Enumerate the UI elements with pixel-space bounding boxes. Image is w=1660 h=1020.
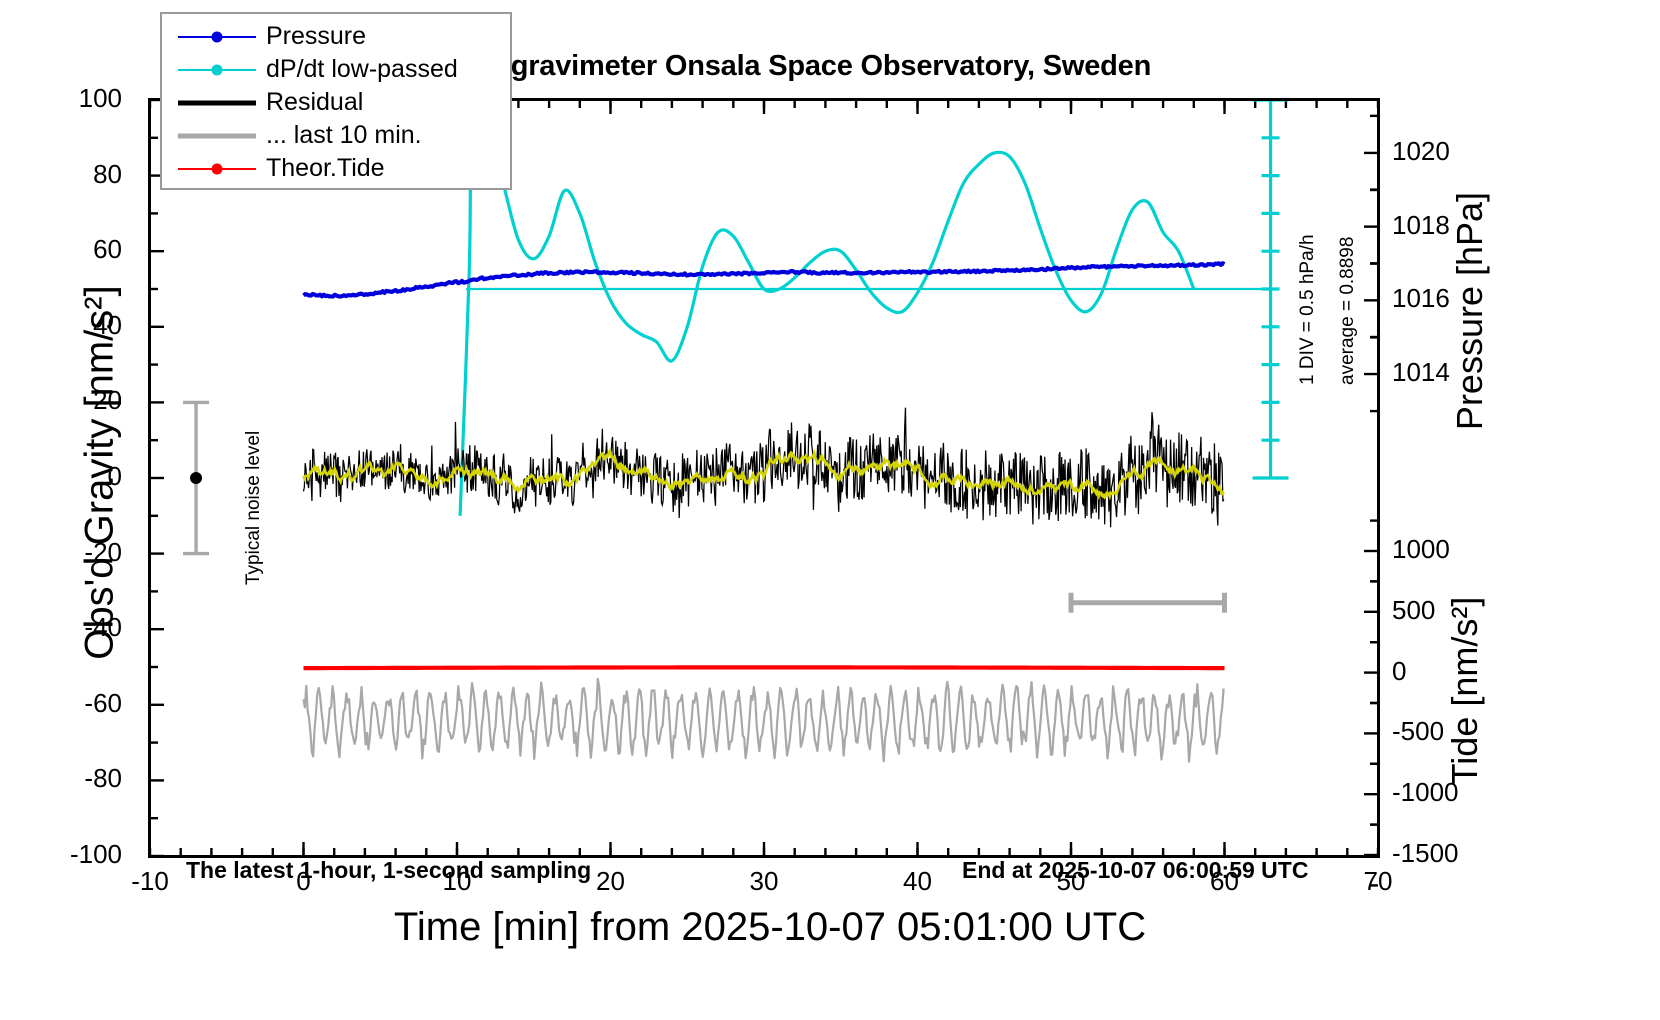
y-tick-label-left-80: 80 [42, 159, 122, 190]
y-tick-label-left--40: -40 [42, 612, 122, 643]
y-tick-label-left--60: -60 [42, 688, 122, 719]
y-tick-label-left-100: 100 [42, 83, 122, 114]
y-tick-label-tide--1000: -1000 [1392, 777, 1502, 808]
annotation-typical-noise-level: Typical noise level [243, 431, 265, 585]
legend-item-label: Residual [266, 88, 363, 117]
x-tick-label-70: 70 [1333, 866, 1423, 897]
y-tick-label-left-40: 40 [42, 310, 122, 341]
legend-swatch-icon [178, 126, 256, 146]
y-tick-label-pressure-1016: 1016 [1392, 283, 1502, 314]
legend-item-0[interactable]: Pressure [162, 20, 510, 53]
gravimeter-chart-page: SCG_054 gravimeter Onsala Space Observat… [0, 0, 1660, 1020]
y-tick-label-tide-500: 500 [1392, 595, 1502, 626]
annotation-dpdt-average: average = 0.8898 [1337, 237, 1359, 385]
legend-item-2[interactable]: Residual [162, 86, 510, 119]
legend-item-1[interactable]: dP/dt low-passed [162, 53, 510, 86]
legend-swatch-icon [178, 60, 256, 80]
y-tick-label-left--20: -20 [42, 537, 122, 568]
y-tick-label-pressure-1020: 1020 [1392, 136, 1502, 167]
y-tick-label-tide--1500: -1500 [1392, 838, 1502, 869]
y-tick-label-tide-0: 0 [1392, 656, 1502, 687]
annotation-footer-left: The latest 1-hour, 1-second sampling [186, 857, 591, 884]
y-tick-label-tide-1000: 1000 [1392, 534, 1502, 565]
x-tick-label-30: 30 [719, 866, 809, 897]
y-tick-label-pressure-1018: 1018 [1392, 210, 1502, 241]
x-axis-title: Time [min] from 2025-10-07 05:01:00 UTC [0, 905, 1540, 950]
legend-item-label: Pressure [266, 22, 366, 51]
y-tick-label-left-60: 60 [42, 234, 122, 265]
legend-swatch-icon [178, 93, 256, 113]
legend-item-3[interactable]: ... last 10 min. [162, 119, 510, 152]
legend-item-label: ... last 10 min. [266, 121, 422, 150]
y-tick-label-tide--500: -500 [1392, 716, 1502, 747]
legend-item-label: Theor.Tide [266, 154, 385, 183]
x-tick-label--10: -10 [105, 866, 195, 897]
legend-item-4[interactable]: Theor.Tide [162, 152, 510, 185]
y-tick-label-left-20: 20 [42, 385, 122, 416]
chart-legend: PressuredP/dt low-passedResidual... last… [160, 12, 512, 190]
annotation-footer-right: End at 2025-10-07 06:00:59 UTC [962, 857, 1308, 884]
y-tick-label-left--80: -80 [42, 763, 122, 794]
y-tick-label-pressure-1014: 1014 [1392, 357, 1502, 388]
legend-swatch-icon [178, 27, 256, 47]
legend-swatch-icon [178, 159, 256, 179]
plot-frame [148, 98, 1380, 858]
annotation-dpdt-div-scale: 1 DIV = 0.5 hPa/h [1297, 234, 1319, 385]
y-tick-label-left-0: 0 [42, 461, 122, 492]
x-tick-label-40: 40 [873, 866, 963, 897]
legend-item-label: dP/dt low-passed [266, 55, 458, 84]
